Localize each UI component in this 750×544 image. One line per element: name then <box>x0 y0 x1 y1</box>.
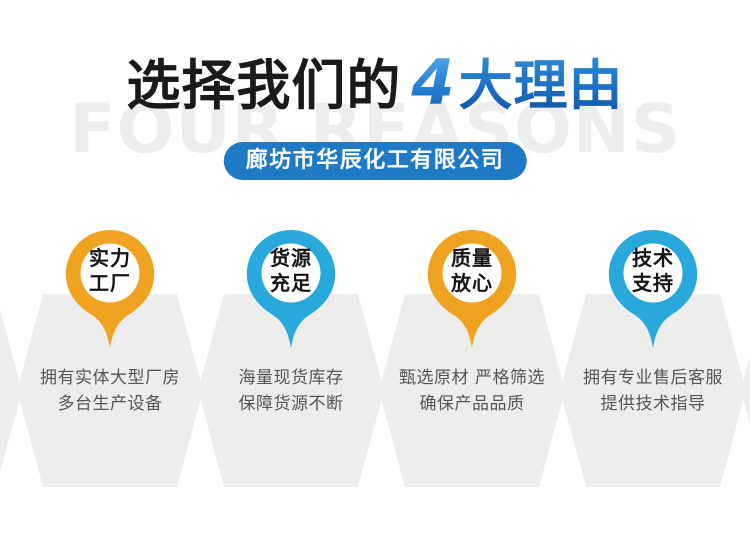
map-pin-icon: 质量 放心 <box>425 228 519 350</box>
banner-header: FOUR REASONS 选择我们的4大理由 廊坊市华辰化工有限公司 <box>0 0 750 200</box>
card-description: 拥有实体大型厂房 多台生产设备 <box>17 366 203 418</box>
map-pin-icon: 实力 工厂 <box>63 228 157 350</box>
page-title: 选择我们的4大理由 <box>0 52 750 114</box>
desc-line-1: 甄选原材 严格筛选 <box>379 366 565 392</box>
promo-banner: FOUR REASONS 选择我们的4大理由 廊坊市华辰化工有限公司 实力 工厂 <box>0 0 750 544</box>
reason-card-2: 货源 充足 海量现货库存 保障货源不断 <box>198 228 384 488</box>
map-pin-icon: 技术 支持 <box>606 228 700 350</box>
desc-line-2: 提供技术指导 <box>560 392 746 418</box>
reason-card-4: 技术 支持 拥有专业售后客服 提供技术指导 <box>560 228 746 488</box>
card-description: 拥有专业售后客服 提供技术指导 <box>560 366 746 418</box>
reason-card-3: 质量 放心 甄选原材 严格筛选 确保产品品质 <box>379 228 565 488</box>
reason-card-1: 实力 工厂 拥有实体大型厂房 多台生产设备 <box>17 228 203 488</box>
map-pin-icon: 货源 充足 <box>244 228 338 350</box>
desc-line-2: 多台生产设备 <box>17 392 203 418</box>
reason-cards: 实力 工厂 拥有实体大型厂房 多台生产设备 货源 充足 <box>0 228 750 488</box>
card-description: 甄选原材 严格筛选 确保产品品质 <box>379 366 565 418</box>
desc-line-1: 拥有实体大型厂房 <box>17 366 203 392</box>
title-number: 4 <box>401 46 458 119</box>
card-description: 海量现货库存 保障货源不断 <box>198 366 384 418</box>
desc-line-2: 确保产品品质 <box>379 392 565 418</box>
desc-line-1: 海量现货库存 <box>198 366 384 392</box>
company-name-badge: 廊坊市华辰化工有限公司 <box>224 142 527 180</box>
desc-line-2: 保障货源不断 <box>198 392 384 418</box>
title-prefix: 选择我们的 <box>126 54 401 117</box>
title-suffix: 大理由 <box>459 54 624 117</box>
desc-line-1: 拥有专业售后客服 <box>560 366 746 392</box>
